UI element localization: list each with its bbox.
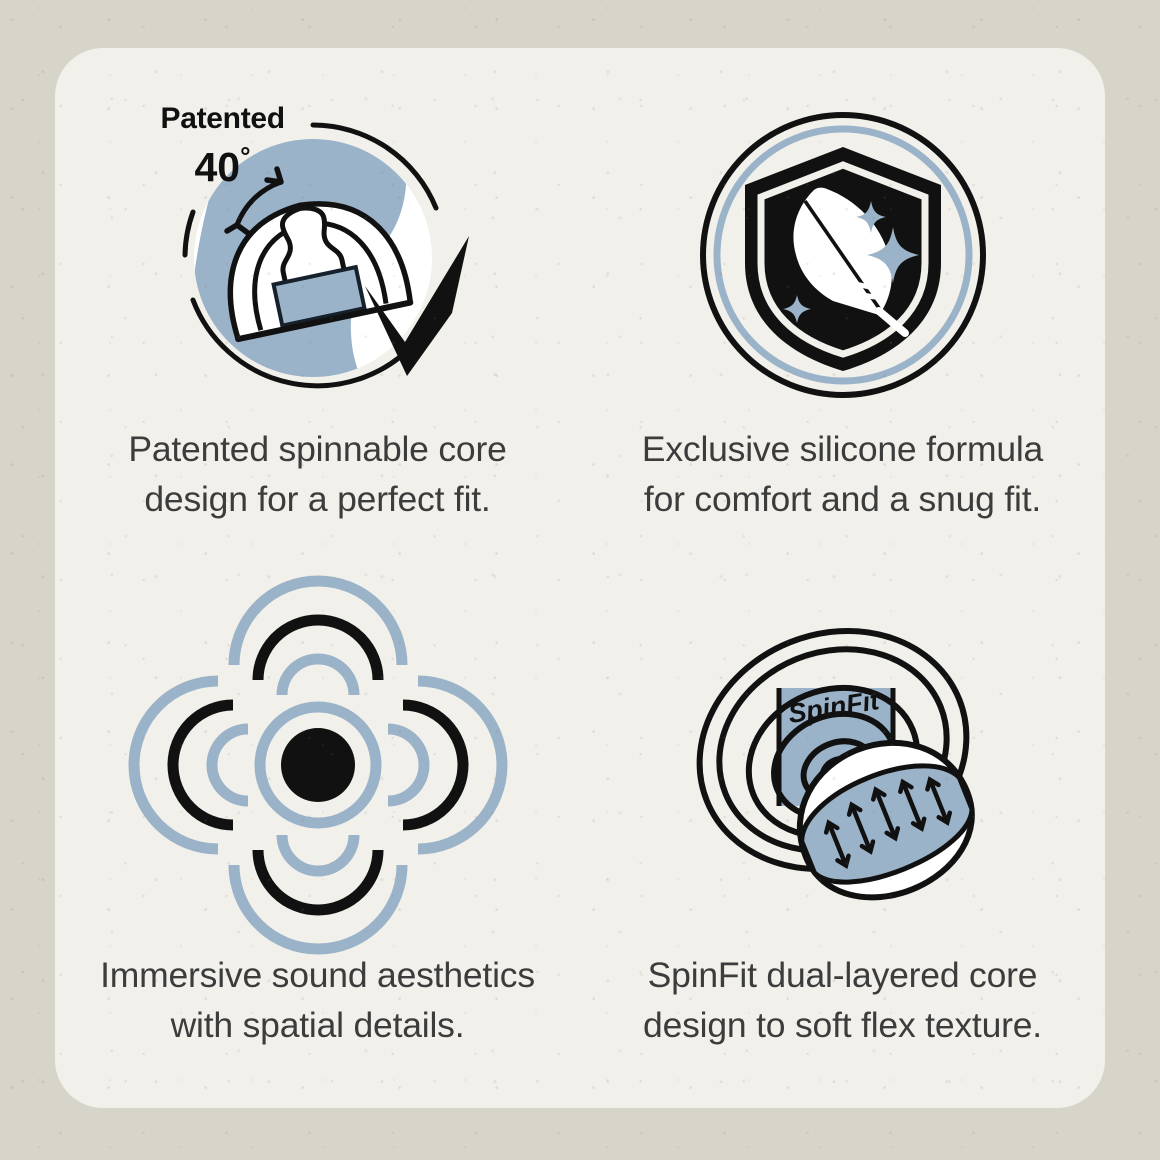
feature-cell-immersive-sound: Immersive sound aesthetics with spatial …: [55, 578, 580, 1108]
center-dot: [281, 728, 355, 802]
feature-caption-dual-layered-core: SpinFit dual-layered core design to soft…: [643, 950, 1042, 1051]
eartip-spinfit-svg: SpinFit: [683, 610, 1003, 920]
feature-cell-silicone-formula: Exclusive silicone formula for comfort a…: [580, 48, 1105, 578]
wave-bottom: [234, 835, 402, 949]
spinfit-dual-layer-eartip-icon: SpinFit: [678, 590, 1008, 940]
shield-badge-svg: [693, 105, 993, 405]
wave-left: [134, 681, 248, 849]
caption-line-1: Exclusive silicone formula: [642, 424, 1043, 474]
feature-cell-patented-core: Patented 40°: [55, 48, 580, 578]
wave-right: [388, 681, 502, 849]
patented-angle-value: 40°: [195, 143, 285, 188]
sound-waves-icon: [153, 590, 483, 940]
caption-line-1: SpinFit dual-layered core: [643, 950, 1042, 1000]
caption-line-1: Immersive sound aesthetics: [100, 950, 535, 1000]
feature-caption-patented-core: Patented spinnable core design for a per…: [128, 424, 506, 525]
caption-line-2: for comfort and a snug fit.: [642, 474, 1043, 524]
degree-symbol: °: [240, 141, 250, 171]
caption-line-1: Patented spinnable core: [128, 424, 506, 474]
wave-top: [234, 581, 402, 695]
feature-caption-immersive-sound: Immersive sound aesthetics with spatial …: [100, 950, 535, 1051]
sound-waves-svg: [168, 615, 468, 915]
patented-label-text: Patented: [161, 104, 285, 134]
feather-shield-icon: [678, 90, 1008, 420]
caption-line-2: design for a perfect fit.: [128, 474, 506, 524]
feature-caption-silicone-formula: Exclusive silicone formula for comfort a…: [642, 424, 1043, 525]
patented-spinnable-core-icon: Patented 40°: [153, 90, 483, 420]
feature-card: Patented 40°: [55, 48, 1105, 1108]
feature-cell-dual-layered-core: SpinFit: [580, 578, 1105, 1108]
feature-grid: Patented 40°: [55, 48, 1105, 1108]
caption-line-2: with spatial details.: [100, 1000, 535, 1050]
caption-line-2: design to soft flex texture.: [643, 1000, 1042, 1050]
patented-angle-badge: Patented 40°: [161, 104, 285, 188]
